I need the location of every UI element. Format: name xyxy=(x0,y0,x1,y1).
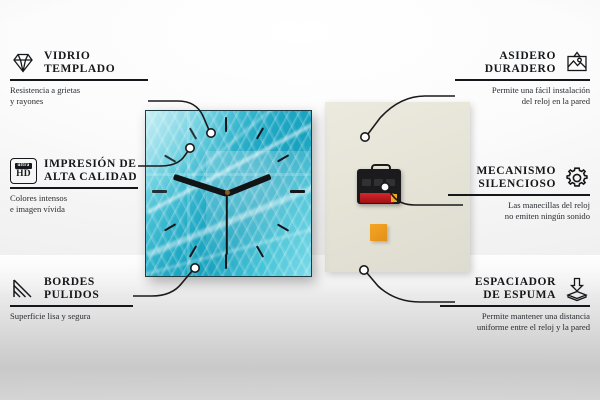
clock-center-pin xyxy=(225,190,230,195)
infographic-canvas: VIDRIO TEMPLADO Resistencia a grietas y … xyxy=(0,0,600,400)
vignette-overlay xyxy=(0,0,600,400)
